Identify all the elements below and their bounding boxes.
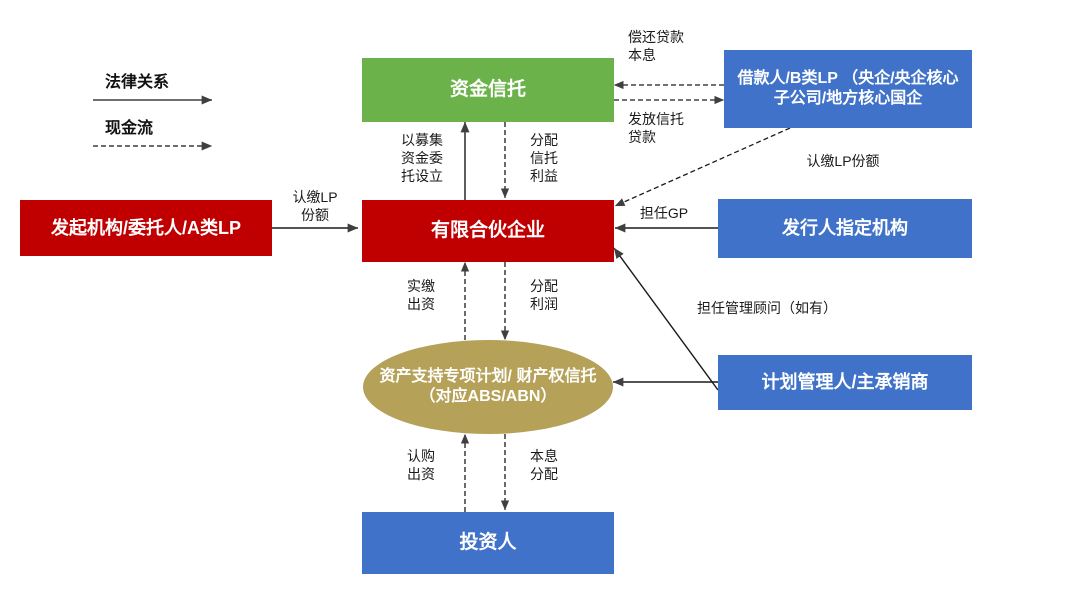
edge-label-repay-loan: 偿还贷款 本息 [628,28,684,64]
edge-label-entrust-setup: 以募集 资金委 托设立 [392,131,452,186]
edge-management-advisor [614,248,718,390]
edge-label-serve-as-gp: 担任GP [628,204,700,222]
edge-label-principal-interest: 本息 分配 [521,447,567,483]
legend-label-cashflow: 现金流 [105,114,153,138]
edge-label-subscribe-lp-right: 认缴LP份额 [778,152,908,170]
legend-label-legal: 法律关系 [105,68,169,92]
node-sponsor[interactable]: 发起机构/委托人/A类LP [20,200,272,256]
node-plan-manager[interactable]: 计划管理人/主承销商 [718,355,972,410]
diagram-canvas: 法律关系 现金流 资金信托 借款人/B类LP （央企/央企核心子公司/地方核心国… [0,0,1080,610]
node-investors[interactable]: 投资人 [362,512,614,574]
edge-label-issue-trust-loan: 发放信托 贷款 [628,110,684,146]
node-borrower[interactable]: 借款人/B类LP （央企/央企核心子公司/地方核心国企 [724,50,972,128]
node-abs-plan[interactable]: 资产支持专项计划/ 财产权信托 （对应ABS/ABN） [363,340,613,434]
node-issuer-institution[interactable]: 发行人指定机构 [718,199,972,258]
node-fund-trust[interactable]: 资金信托 [362,58,614,122]
edge-label-management-advisor: 担任管理顾问（如有） [672,299,862,317]
edge-label-distribute-benefit: 分配 信托 利益 [521,131,567,186]
edge-label-paid-in-capital: 实缴 出资 [398,277,444,313]
edge-label-subscribe-invest: 认购 出资 [398,447,444,483]
edge-label-subscribe-lp-left: 认缴LP 份额 [279,188,351,224]
node-limited-partnership[interactable]: 有限合伙企业 [362,200,614,262]
edge-label-distribute-profit: 分配 利润 [521,277,567,313]
